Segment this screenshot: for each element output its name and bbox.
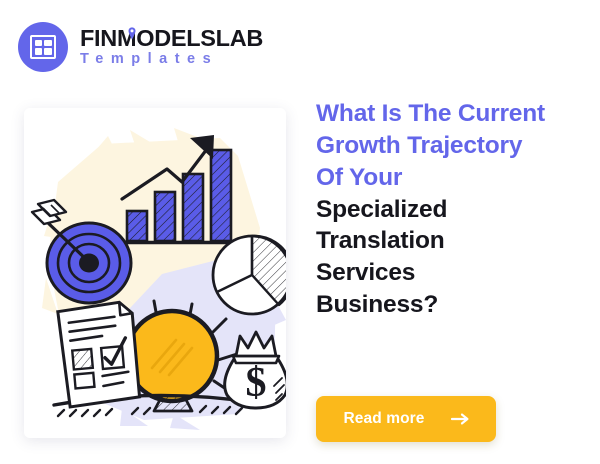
illustration-card: $ (24, 108, 286, 438)
headline-question-line-3: Of Your (316, 162, 584, 194)
grid-squares-icon (30, 35, 56, 59)
headline-topic-line-1: Specialized (316, 194, 584, 226)
business-analytics-illustration: $ (24, 108, 286, 438)
brand-tagline: Templates (80, 52, 263, 68)
brand-name: FINMODELSLAB (80, 26, 263, 51)
pie-chart-icon (213, 236, 286, 314)
headline-topic-line-3: Services (316, 257, 584, 289)
read-more-label: Read more (343, 410, 424, 428)
brand-name-text: FINMODELSLAB (80, 25, 263, 51)
svg-text:$: $ (246, 360, 267, 406)
gold-coin-icon (127, 311, 217, 401)
brand-wordmark: FINMODELSLAB Templates (80, 26, 263, 69)
brand-logo[interactable]: FINMODELSLAB Templates (18, 22, 263, 72)
logo-mark (18, 22, 68, 72)
headline-topic-line-2: Translation (316, 225, 584, 257)
headline-question-line-2: Growth Trajectory (316, 130, 584, 162)
promo-banner: FINMODELSLAB Templates (0, 0, 600, 464)
read-more-button[interactable]: Read more (316, 396, 496, 442)
headline-block: What Is The Current Growth Trajectory Of… (316, 98, 584, 321)
arrow-right-icon (451, 412, 469, 426)
page-title: What Is The Current Growth Trajectory Of… (316, 98, 584, 321)
location-pin-icon (128, 27, 136, 40)
headline-topic-line-4: Business? (316, 289, 584, 321)
checklist-document-icon (57, 301, 139, 407)
headline-question-line-1: What Is The Current (316, 98, 584, 130)
